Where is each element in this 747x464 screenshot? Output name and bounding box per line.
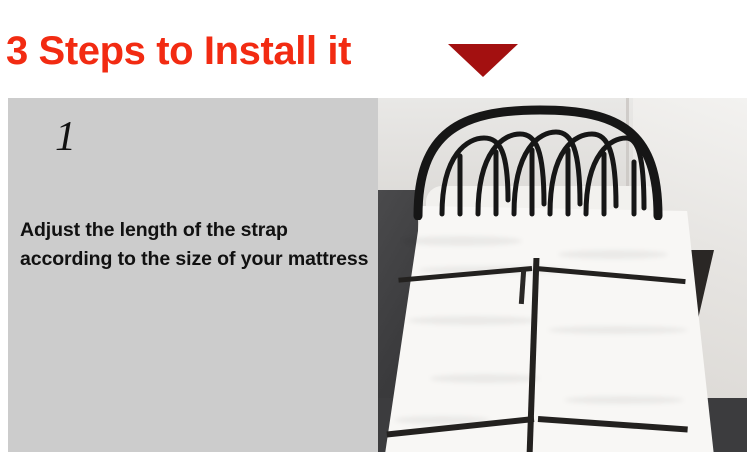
triangle-down-icon: [446, 42, 520, 78]
step-description-text: Adjust the length of the strap according…: [20, 216, 372, 274]
installation-photo: [378, 98, 747, 452]
step-instruction-panel: 1 Adjust the length of the strap accordi…: [8, 98, 378, 452]
duvet: [378, 206, 714, 452]
header-banner: 3 Steps to Install it: [0, 0, 747, 98]
page-title: 3 Steps to Install it: [6, 28, 351, 74]
metal-headboard: [412, 104, 666, 220]
step-number: 1: [55, 116, 76, 158]
